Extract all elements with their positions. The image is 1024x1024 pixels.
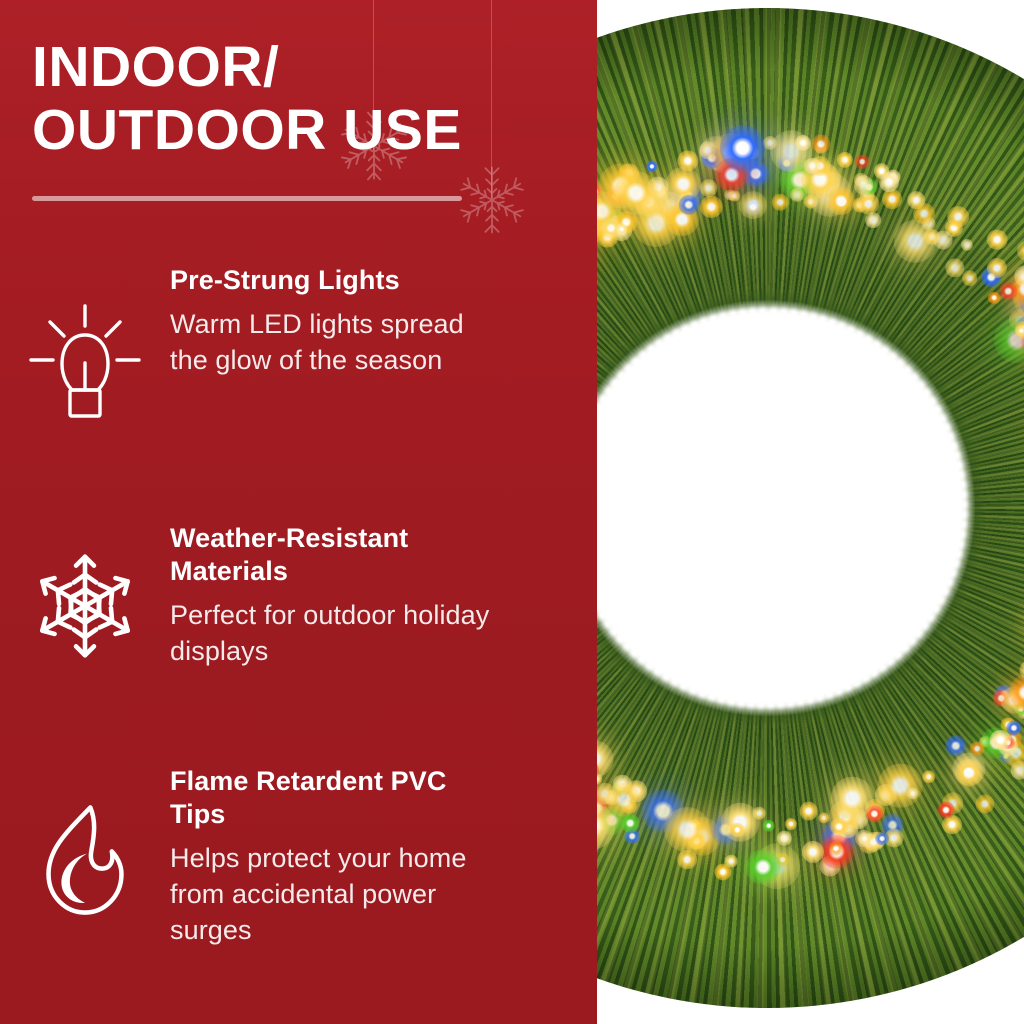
feature-description: Warm LED lights spread the glow of the s… <box>170 306 500 378</box>
product-feature-graphic: INDOOR/ OUTDOOR USE <box>0 0 1024 1024</box>
page-title: INDOOR/ OUTDOOR USE <box>32 36 562 162</box>
feature-text: Weather-Resistant Materials Perfect for … <box>170 520 500 669</box>
wreath-edge-fuzz <box>597 8 1024 1008</box>
feature-item: Weather-Resistant Materials Perfect for … <box>0 520 597 735</box>
red-info-panel: INDOOR/ OUTDOOR USE <box>0 0 597 1024</box>
feature-item: Flame Retardent PVC Tips Helps protect y… <box>0 763 597 978</box>
wreath-image <box>597 8 1024 1008</box>
light-bulb-icon <box>0 262 170 422</box>
snowflake-icon <box>0 520 170 662</box>
feature-item: Pre-Strung Lights Warm LED lights spread… <box>0 262 597 492</box>
snowflake-hanging-2-icon <box>455 163 529 237</box>
feature-list: Pre-Strung Lights Warm LED lights spread… <box>0 262 597 1006</box>
title-divider <box>32 196 462 201</box>
feature-description: Helps protect your home from accidental … <box>170 840 500 948</box>
wreath-product-photo <box>597 0 1024 1024</box>
feature-title: Pre-Strung Lights <box>170 264 500 297</box>
title-block: INDOOR/ OUTDOOR USE <box>32 36 562 162</box>
feature-description: Perfect for outdoor holiday displays <box>170 597 500 669</box>
feature-title: Flame Retardent PVC Tips <box>170 765 500 831</box>
feature-text: Flame Retardent PVC Tips Helps protect y… <box>170 763 500 948</box>
flame-icon <box>0 763 170 919</box>
feature-text: Pre-Strung Lights Warm LED lights spread… <box>170 262 500 378</box>
feature-title: Weather-Resistant Materials <box>170 522 500 588</box>
